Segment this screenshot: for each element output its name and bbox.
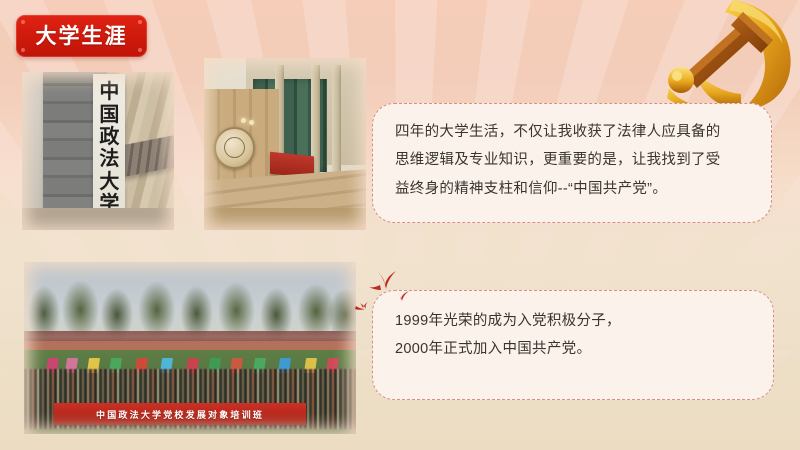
monument-char: 大: [99, 171, 119, 193]
monument-char: 法: [99, 148, 119, 170]
photo-university-gate-monument: 中 国 政 法 大 学: [22, 72, 174, 230]
monument-char: 中: [99, 81, 119, 103]
badge-corner-dot: [138, 48, 142, 52]
monument-name-plate: 中 国 政 法 大 学: [93, 74, 125, 229]
callout-line: 思维逻辑及专业知识，更重要的是，让我找到了受: [395, 146, 757, 174]
ccp-hammer-sickle-icon: [655, 0, 800, 114]
callout-line: 益终身的精神支柱和信仰--“中国共产党”。: [395, 175, 757, 203]
flying-birds-icon: [352, 262, 432, 324]
callout-party-membership: 1999年光荣的成为入党积极分子， 2000年正式加入中国共产党。: [372, 290, 774, 400]
slide-canvas: 大学生涯: [0, 0, 800, 450]
monument-char: 政: [99, 126, 119, 148]
photo-party-school-group: 中国政法大学党校发展对象培训班: [24, 262, 356, 434]
callout-line: 2000年正式加入中国共产党。: [395, 335, 759, 363]
university-seal-icon: [214, 127, 255, 169]
group-photo-banner-text: 中国政法大学党校发展对象培训班: [96, 408, 264, 421]
page-title-badge: 大学生涯: [16, 15, 147, 57]
badge-corner-dot: [21, 48, 25, 52]
page-title: 大学生涯: [36, 26, 128, 47]
callout-line: 四年的大学生活，不仅让我收获了法律人应具备的: [395, 118, 757, 146]
badge-corner-dot: [21, 20, 25, 24]
badge-corner-dot: [138, 20, 142, 24]
group-photo-banner: 中国政法大学党校发展对象培训班: [54, 403, 306, 425]
callout-university-life: 四年的大学生活，不仅让我收获了法律人应具备的 思维逻辑及专业知识，更重要的是，让…: [372, 103, 772, 223]
callout-line: 1999年光荣的成为入党积极分子，: [395, 307, 759, 335]
photo-university-library-building: [204, 58, 366, 230]
monument-char: 国: [99, 104, 119, 126]
